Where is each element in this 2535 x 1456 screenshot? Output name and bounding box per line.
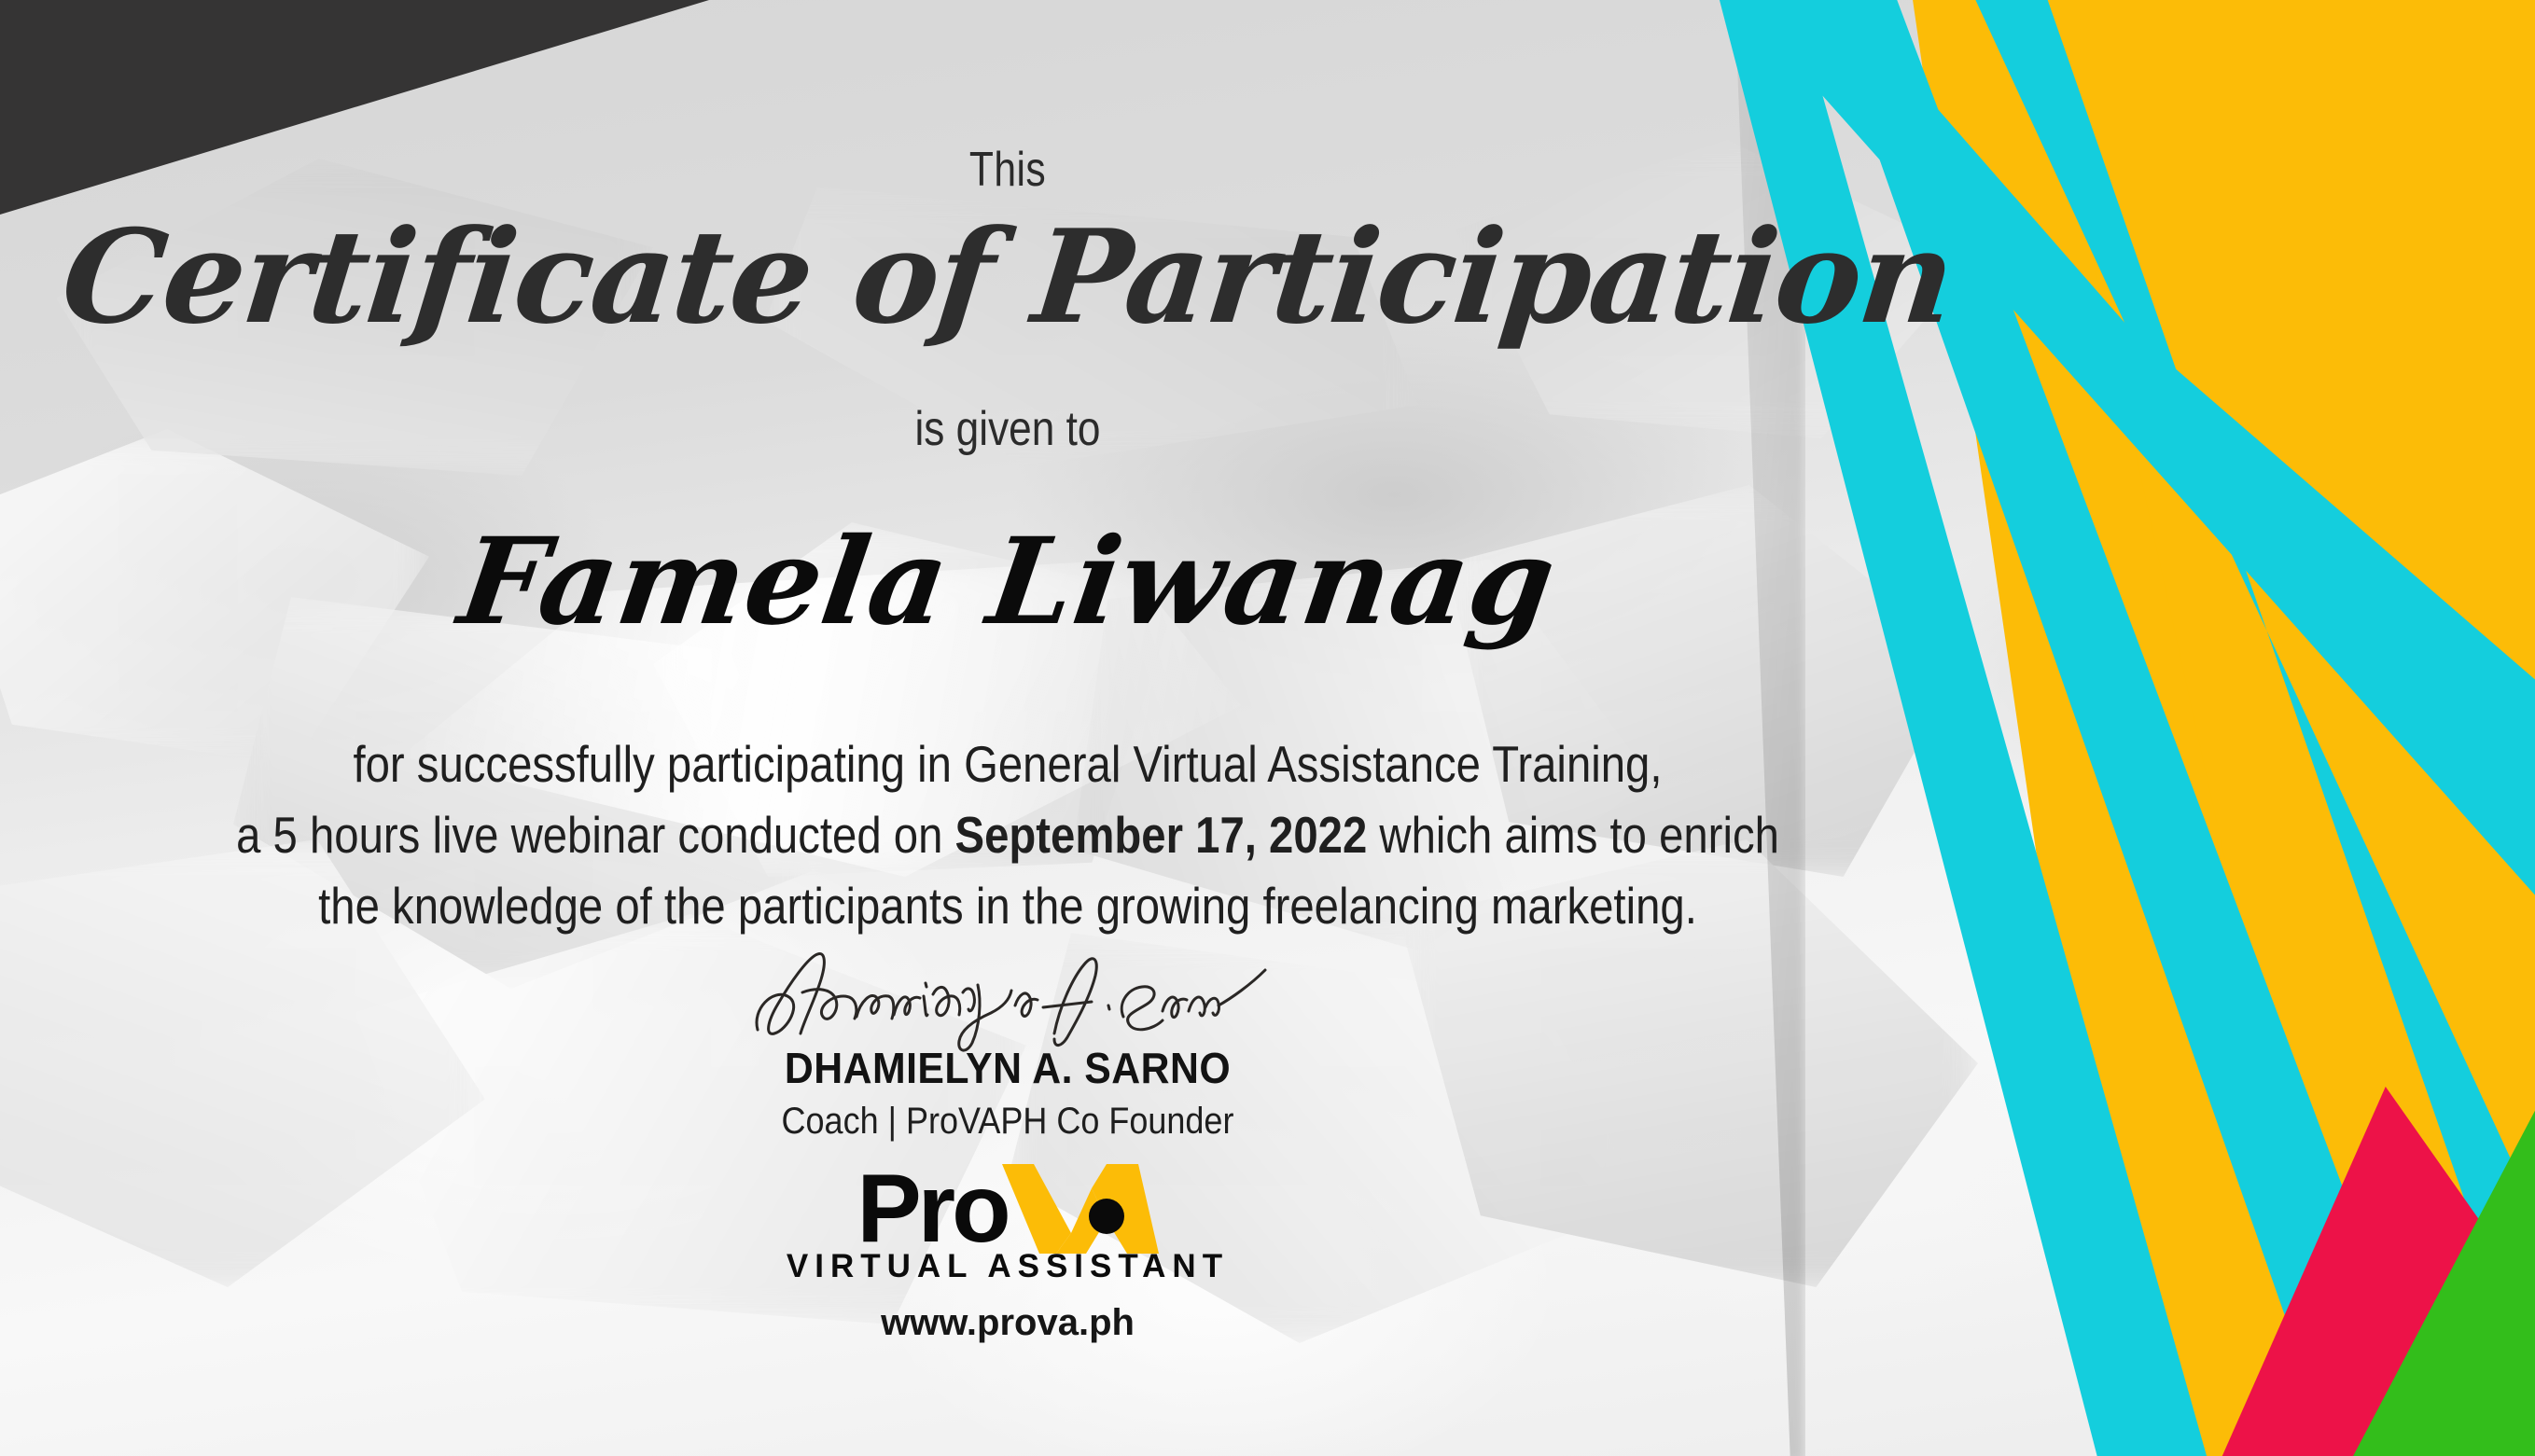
event-date: September 17, 2022: [955, 806, 1368, 864]
va-monogram-icon: [1002, 1164, 1159, 1254]
body-line-3: the knowledge of the participants in the…: [141, 871, 1874, 942]
logo-website: www.prova.ph: [0, 1302, 2015, 1344]
certificate-body: for successfully participating in Genera…: [141, 729, 1874, 942]
signature-image: [0, 944, 2015, 1056]
certificate-canvas: This Certificate of Participation is giv…: [0, 0, 2535, 1456]
prova-logo: Pro VIRTUAL ASSISTANT www.prova.ph: [0, 1164, 2015, 1344]
given-to-label: is given to: [151, 401, 1864, 457]
logo-tagline: VIRTUAL ASSISTANT: [0, 1248, 2015, 1285]
signatory-name: DHAMIELYN A. SARNO: [71, 1043, 1945, 1093]
certificate-title: Certificate of Participation: [0, 213, 2022, 341]
body-line-1: for successfully participating in Genera…: [141, 729, 1874, 800]
handwritten-signature-icon: [746, 944, 1269, 1056]
recipient-name: Famela Liwanag: [0, 522, 2024, 642]
signature-block: DHAMIELYN A. SARNO Coach | ProVAPH Co Fo…: [0, 944, 2015, 1143]
prova-logo-mark: Pro: [857, 1164, 1158, 1254]
logo-va-icon: [1002, 1164, 1159, 1254]
intro-label: This: [181, 142, 1833, 198]
certificate-content: This Certificate of Participation is giv…: [0, 0, 2015, 1456]
body-line-2: a 5 hours live webinar conducted on Sept…: [141, 800, 1874, 871]
body-line-2-pre: a 5 hours live webinar conducted on: [236, 806, 954, 864]
body-line-2-post: which aims to enrich: [1367, 806, 1779, 864]
logo-word-pro: Pro: [857, 1155, 1007, 1263]
signatory-role: Coach | ProVAPH Co Founder: [101, 1101, 1915, 1143]
